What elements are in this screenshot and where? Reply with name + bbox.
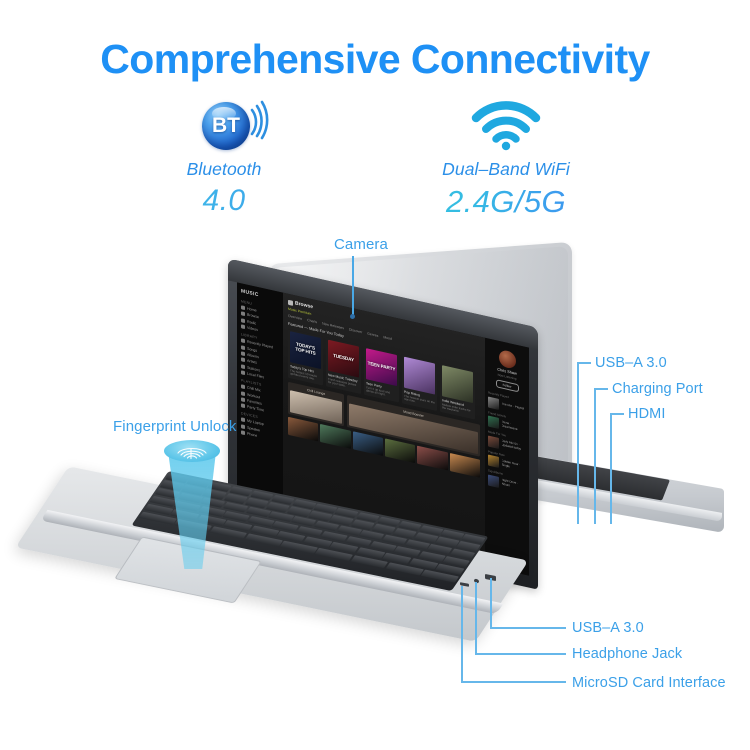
strip-thumbnail[interactable] — [288, 416, 318, 441]
album-art-label: TODAY'S TOP HITS — [290, 342, 321, 358]
album-art: TODAY'S TOP HITS — [290, 331, 321, 369]
callout-bottom-1-line — [475, 582, 477, 654]
right-rail-text: Elena · Dreamwave — [502, 420, 527, 433]
callout-camera-label: Camera — [334, 236, 388, 253]
sidebar-item-label: Browse — [247, 313, 259, 320]
right-rail-thumbnail — [488, 396, 499, 409]
right-rail-thumbnail — [488, 415, 499, 428]
right-rail-text: Daily Mix 01 · Updated today — [502, 440, 527, 453]
tab-charts[interactable]: Charts — [307, 318, 317, 324]
sidebar-item-label: Videos — [247, 326, 258, 332]
sidebar-item-icon — [241, 424, 245, 429]
sidebar-item-label: Phone — [247, 432, 257, 438]
sidebar-item-icon — [241, 364, 245, 369]
strip-thumbnail[interactable] — [417, 445, 447, 470]
album-art-label: TEEN PARTY — [367, 361, 397, 372]
product-infographic: Comprehensive Connectivity BT Bluetooth … — [0, 0, 750, 750]
album-card[interactable]: Indie WeekendMellow indie tracks for the… — [440, 362, 475, 419]
callout-camera-line — [352, 256, 354, 316]
strip-thumbnail[interactable] — [320, 423, 350, 448]
sidebar-item-icon — [241, 351, 245, 356]
sidebar-item-label: Albums — [247, 353, 259, 360]
right-rail-thumbnail — [488, 474, 499, 487]
wifi-bands: 2.4G/5G — [406, 184, 606, 220]
callout-right-2-line — [610, 413, 612, 524]
bluetooth-label: Bluetooth — [124, 159, 324, 180]
sidebar-item-icon — [241, 397, 245, 402]
sidebar-item-icon — [241, 370, 245, 375]
album-card[interactable]: TODAY'S TOP HITSToday's Top HitsThe hott… — [288, 328, 323, 385]
sidebar-item-icon — [241, 391, 245, 396]
wifi-icon — [406, 100, 606, 156]
album-art: TUESDAY — [328, 339, 359, 377]
avatar — [499, 349, 516, 370]
follow-button[interactable]: Follow — [496, 379, 519, 392]
sidebar-item-label: Party Time — [247, 405, 264, 413]
tab-genres[interactable]: Genres — [367, 331, 378, 337]
strip-thumbnail[interactable] — [385, 438, 415, 463]
callout-bottom-2-line — [461, 586, 463, 682]
callout-bottom-1-label: Headphone Jack — [572, 646, 682, 662]
callout-right-2-tick — [610, 413, 624, 415]
callout-bottom-0-line — [490, 578, 492, 628]
album-art — [442, 365, 473, 403]
callout-right-1-line — [594, 388, 596, 524]
sidebar-item-label: Radio — [247, 319, 256, 325]
callout-fingerprint-label: Fingerprint Unlock — [113, 418, 237, 435]
strip-thumbnail[interactable] — [450, 452, 480, 477]
music-app-right-rail: Chris Shaw Now Listening Follow Recently… — [485, 338, 529, 576]
sidebar-item-label: Songs — [247, 346, 257, 352]
album-art-label: TUESDAY — [332, 353, 355, 363]
callout-bottom-2-label: MicroSD Card Interface — [572, 675, 726, 691]
callout-bottom-1-rule — [475, 653, 566, 655]
sidebar-item-icon — [241, 324, 245, 329]
callout-bottom-0-label: USB–A 3.0 — [572, 620, 644, 636]
callout-right-0-label: USB–A 3.0 — [595, 355, 667, 371]
album-art: TEEN PARTY — [366, 348, 397, 386]
sidebar-item-icon — [241, 312, 245, 317]
strip-thumbnail[interactable] — [353, 431, 383, 456]
album-card[interactable]: TEEN PARTYTeen PartyTurn it up loud and … — [364, 345, 399, 402]
camera-dot — [350, 314, 355, 319]
album-art — [404, 356, 435, 394]
callout-bottom-2-rule — [461, 681, 566, 683]
sidebar-item-icon — [241, 418, 245, 423]
bluetooth-version: 4.0 — [124, 184, 324, 218]
bluetooth-icon: BT — [124, 100, 324, 156]
right-rail-text: Night Drive · Album — [502, 479, 527, 492]
brand-icon — [288, 299, 293, 305]
album-card[interactable]: TUESDAYNew Music TuesdayFresh releases p… — [326, 337, 361, 394]
feature-bluetooth: BT Bluetooth 4.0 — [124, 100, 324, 218]
callout-right-2-label: HDMI — [628, 406, 665, 422]
tab-discover[interactable]: Discover — [349, 327, 362, 334]
sidebar-item-icon — [241, 305, 245, 310]
sidebar-item-icon — [241, 318, 245, 323]
tab-mood[interactable]: Mood — [383, 335, 391, 341]
sidebar-item-icon — [241, 430, 245, 435]
music-app-sidebar: MUSIC MenuHomeBrowseRadioVideosLibraryRe… — [237, 282, 283, 520]
sidebar-item-label: Artists — [247, 359, 257, 365]
right-rail-thumbnail — [488, 454, 499, 467]
fingerprint-icon — [172, 442, 212, 460]
sidebar-item-icon — [241, 338, 245, 343]
sidebar-item-icon — [241, 384, 245, 389]
right-rail-text: Golden Hour · Single — [502, 459, 527, 472]
right-rail-thumbnail — [488, 435, 499, 448]
album-card[interactable]: Pop RisingThe newest stars on the rise n… — [402, 354, 437, 411]
feature-wifi: Dual–Band WiFi 2.4G/5G — [406, 100, 606, 220]
sidebar-item-icon — [241, 404, 245, 409]
tab-overview[interactable]: Overview — [288, 313, 302, 320]
callout-right-1-label: Charging Port — [612, 381, 703, 397]
wifi-label: Dual–Band WiFi — [406, 159, 606, 180]
sidebar-item-label: Local Files — [247, 372, 264, 380]
sidebar-item-icon — [241, 358, 245, 363]
sidebar-item-label: Home — [247, 307, 257, 313]
bluetooth-badge-text: BT — [202, 102, 250, 150]
sidebar-item-icon — [241, 345, 245, 350]
callout-right-1-tick — [594, 388, 608, 390]
right-rail-text: The Mix · Playlist — [502, 403, 525, 412]
callout-bottom-0-rule — [490, 627, 566, 629]
callout-right-0-tick — [577, 362, 591, 364]
callout-right-0-line — [577, 362, 579, 524]
page-title: Comprehensive Connectivity — [0, 36, 750, 83]
